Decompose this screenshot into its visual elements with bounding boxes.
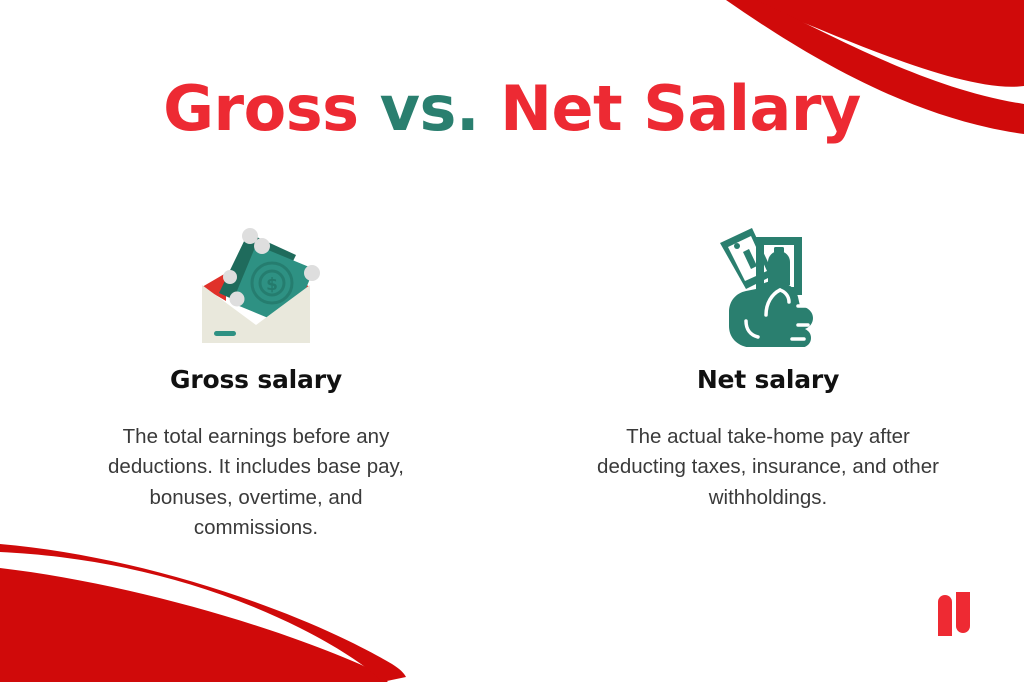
brand-logo[interactable] (936, 592, 972, 636)
logo-bar-left (938, 595, 952, 636)
page-title: Gross vs. Net Salary (0, 78, 1024, 140)
title-word-gross: Gross (163, 72, 358, 145)
infographic-canvas: Gross vs. Net Salary (0, 0, 1024, 682)
comparison-columns: $ Gross salary The total earnings before… (0, 212, 1024, 543)
envelope-with-money-icon: $ (186, 212, 326, 347)
title-word-vs: vs. (380, 72, 479, 145)
page-title-text: Gross vs. Net Salary (0, 78, 1024, 140)
title-word-netsalary: Net Salary (500, 72, 861, 145)
logo-bar-right (956, 592, 970, 633)
envelope-dash (214, 331, 236, 336)
bottom-left-red-wave (0, 568, 388, 682)
card-body-net: The actual take-home pay after deducting… (592, 422, 944, 513)
column-gross-salary: $ Gross salary The total earnings before… (0, 212, 512, 543)
card-body-gross: The total earnings before any deductions… (90, 422, 422, 543)
card-heading-net: Net salary (697, 365, 839, 394)
svg-text:$: $ (266, 275, 278, 295)
bottom-left-red-arc (0, 544, 406, 682)
card-heading-gross: Gross salary (170, 365, 342, 394)
column-net-salary: Net salary The actual take-home pay afte… (512, 212, 1024, 543)
hand-holding-cash-icon (712, 212, 824, 347)
